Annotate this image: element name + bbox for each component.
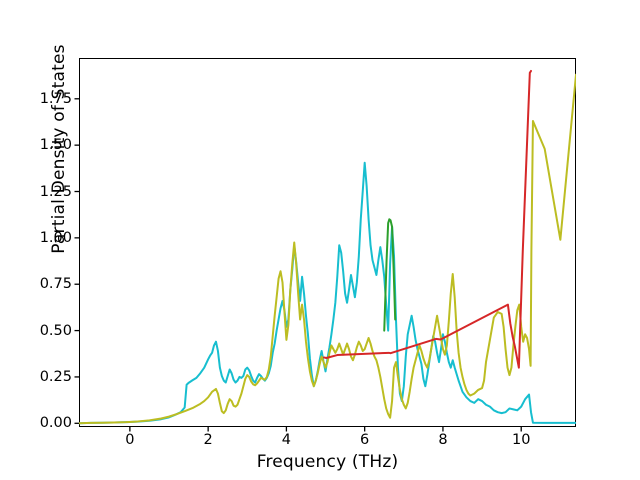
plot-area (79, 58, 576, 427)
x-tick-label-3: 6 (360, 432, 369, 448)
x-tick-label-0: 0 (125, 432, 134, 448)
x-tick-label-2: 4 (282, 432, 291, 448)
x-tick-label-5: 10 (512, 432, 530, 448)
figure-canvas: 0.000.250.500.751.001.251.501.75 0246810… (0, 0, 640, 480)
x-tick-label-1: 2 (204, 432, 213, 448)
y-tick-label-1: 0.25 (40, 369, 72, 385)
y-axis-label: Partial Density of States (49, 0, 69, 334)
x-tick-label-4: 8 (438, 432, 447, 448)
y-tick-label-0: 0.00 (40, 415, 72, 431)
x-axis-label: Frequency (THz) (79, 452, 576, 472)
